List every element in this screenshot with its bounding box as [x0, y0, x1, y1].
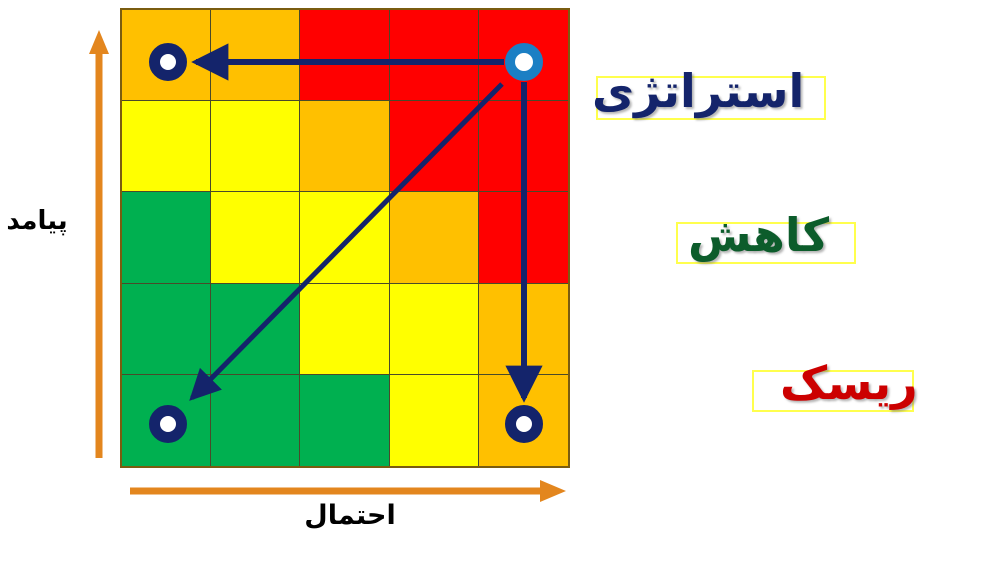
matrix-cell-r2-c1[interactable]: [122, 101, 211, 192]
risk-matrix-grid: [120, 8, 570, 468]
matrix-cell-r2-c3[interactable]: [300, 101, 389, 192]
y-axis-label: پیامد: [0, 206, 80, 236]
marker-target-bottomright[interactable]: [505, 405, 543, 443]
matrix-cell-r1-c3[interactable]: [300, 10, 389, 101]
matrix-cell-r4-c1[interactable]: [122, 284, 211, 375]
matrix-cell-r3-c1[interactable]: [122, 192, 211, 283]
marker-target-topleft[interactable]: [149, 43, 187, 81]
marker-source-topright[interactable]: [505, 43, 543, 81]
matrix-cell-r5-c2[interactable]: [211, 375, 300, 466]
risk-matrix-diagram: پیامد احتمال استراتژی کاهش ریسک: [0, 0, 999, 561]
matrix-cell-r4-c2[interactable]: [211, 284, 300, 375]
matrix-cell-r5-c4[interactable]: [390, 375, 479, 466]
y-axis-arrow: [88, 28, 110, 458]
matrix-cell-r2-c4[interactable]: [390, 101, 479, 192]
matrix-cell-r4-c5[interactable]: [479, 284, 568, 375]
matrix-cell-r4-c4[interactable]: [390, 284, 479, 375]
marker-target-bottomleft[interactable]: [149, 405, 187, 443]
matrix-cell-r2-c5[interactable]: [479, 101, 568, 192]
matrix-cell-r3-c4[interactable]: [390, 192, 479, 283]
matrix-cell-r2-c2[interactable]: [211, 101, 300, 192]
legend-item-mitigation[interactable]: کاهش: [688, 212, 829, 258]
matrix-cell-r1-c4[interactable]: [390, 10, 479, 101]
matrix-cell-r3-c3[interactable]: [300, 192, 389, 283]
matrix-cell-r5-c3[interactable]: [300, 375, 389, 466]
matrix-cell-r4-c3[interactable]: [300, 284, 389, 375]
matrix-cell-r3-c5[interactable]: [479, 192, 568, 283]
x-axis-label: احتمال: [250, 500, 450, 531]
matrix-cell-r3-c2[interactable]: [211, 192, 300, 283]
legend-item-strategy[interactable]: استراتژی: [592, 68, 804, 114]
legend-item-risk[interactable]: ریسک: [780, 360, 918, 406]
matrix-cell-r1-c2[interactable]: [211, 10, 300, 101]
x-axis-arrow: [130, 480, 568, 502]
